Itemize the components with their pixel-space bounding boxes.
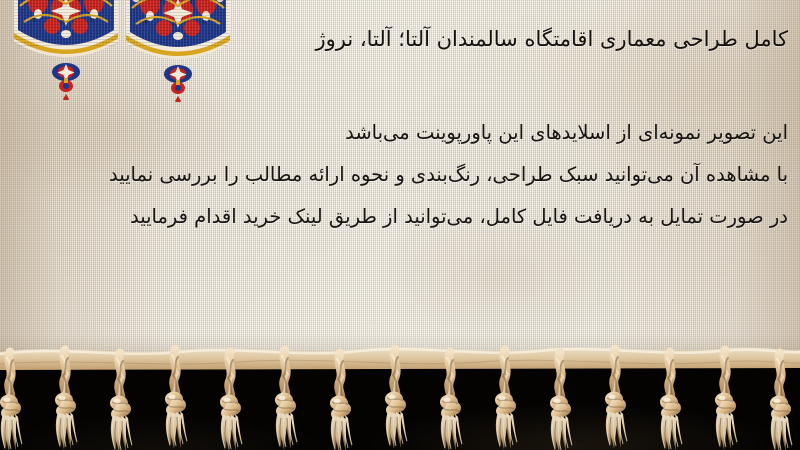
body-line: این تصویر نمونه‌ای از اسلایدهای این پاور… [10, 112, 788, 154]
body-line: در صورت تمایل به دریافت فایل کامل، می‌تو… [10, 196, 788, 238]
carpet-medallion-icon [14, 0, 118, 100]
medallion-pendant-icon [52, 63, 80, 100]
medallion-pendant-icon [164, 65, 192, 102]
slide-body: این تصویر نمونه‌ای از اسلایدهای این پاور… [10, 112, 788, 238]
carpet-medallion-icon [126, 0, 230, 102]
slide-title: کامل طراحی معماری اقامتگاه سالمندان آلتا… [240, 24, 788, 54]
body-line: با مشاهده آن می‌توانید سبک طراحی، رنگ‌بن… [10, 154, 788, 196]
carpet-fringe-decoration [0, 338, 800, 450]
presentation-slide: کامل طراحی معماری اقامتگاه سالمندان آلتا… [0, 0, 800, 450]
